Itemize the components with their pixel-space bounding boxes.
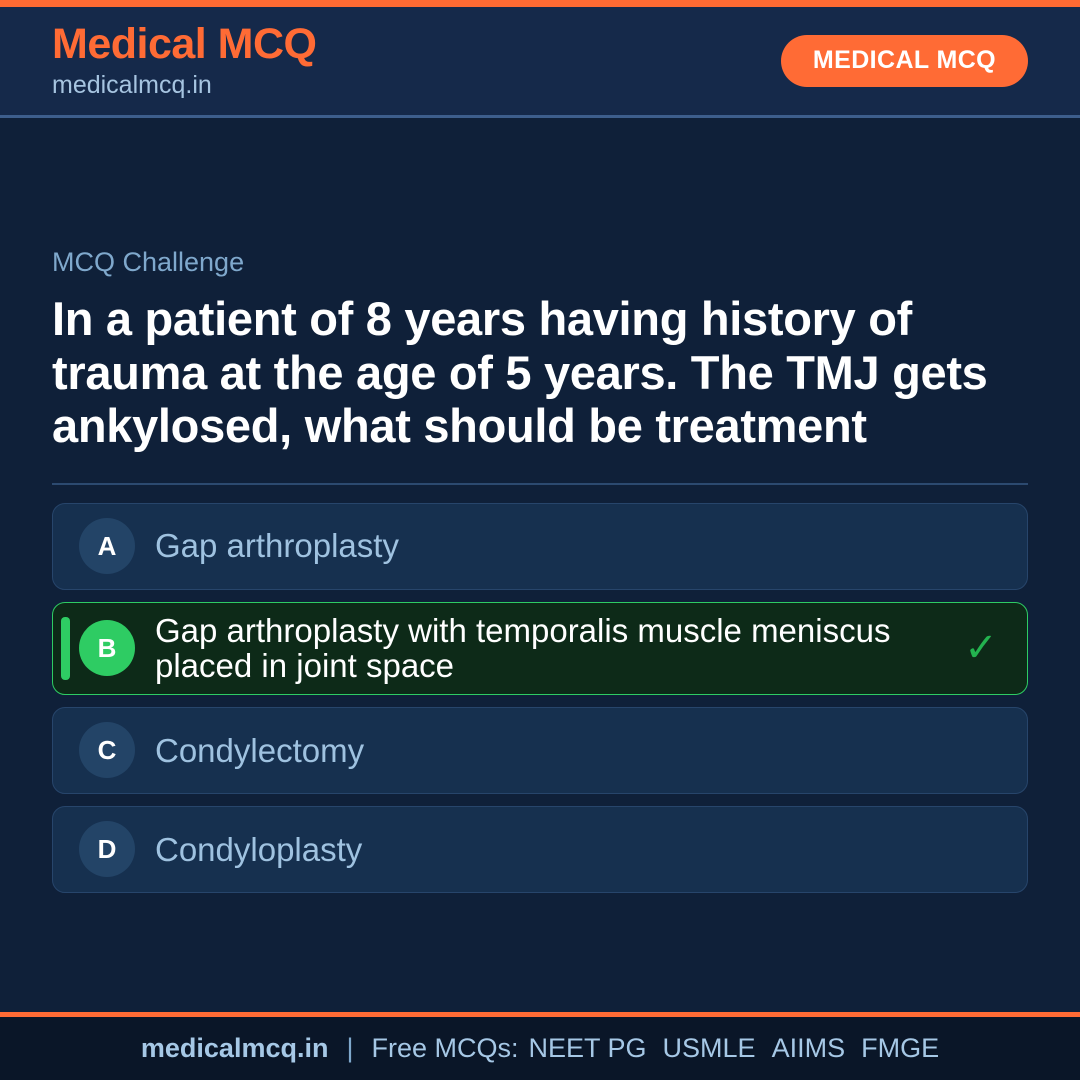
option-c[interactable]: C Condylectomy — [52, 707, 1028, 794]
brand-subtitle: medicalmcq.in — [52, 70, 317, 100]
option-label: Condyloplasty — [155, 832, 959, 868]
option-letter-badge: B — [79, 620, 135, 676]
option-a[interactable]: A Gap arthroplasty — [52, 503, 1028, 590]
footer-tag-aiims[interactable]: AIIMS — [772, 1035, 846, 1062]
brand-title: Medical MCQ — [52, 22, 317, 68]
option-letter-badge: C — [79, 722, 135, 778]
option-label: Gap arthroplasty — [155, 528, 959, 564]
check-icon: ✓ — [959, 628, 1003, 668]
option-label: Gap arthroplasty with temporalis muscle … — [155, 613, 959, 684]
correct-accent-bar — [61, 617, 70, 680]
options-list: A Gap arthroplasty B Gap arthroplasty wi… — [52, 503, 1028, 893]
option-letter-badge: D — [79, 821, 135, 877]
footer-tags: NEET PG USMLE AIIMS FMGE — [529, 1035, 940, 1062]
option-b[interactable]: B Gap arthroplasty with temporalis muscl… — [52, 602, 1028, 695]
option-label: Condylectomy — [155, 733, 959, 769]
footer-content: medicalmcq.in | Free MCQs: NEET PG USMLE… — [141, 1035, 939, 1062]
option-d[interactable]: D Condyloplasty — [52, 806, 1028, 893]
option-letter-badge: A — [79, 518, 135, 574]
question-divider — [52, 483, 1028, 485]
question-text: In a patient of 8 years having history o… — [52, 292, 1027, 451]
footer: medicalmcq.in | Free MCQs: NEET PG USMLE… — [0, 1012, 1080, 1080]
header-badge[interactable]: MEDICAL MCQ — [781, 35, 1028, 87]
kicker-label: MCQ Challenge — [52, 246, 1028, 278]
main-content: MCQ Challenge In a patient of 8 years ha… — [0, 118, 1080, 1012]
mcq-card: Medical MCQ medicalmcq.in MEDICAL MCQ MC… — [0, 0, 1080, 1080]
footer-tag-fmge[interactable]: FMGE — [861, 1035, 939, 1062]
footer-tag-usmle[interactable]: USMLE — [663, 1035, 756, 1062]
top-accent-bar — [0, 0, 1080, 7]
footer-tag-neetpg[interactable]: NEET PG — [529, 1035, 647, 1062]
footer-site[interactable]: medicalmcq.in — [141, 1035, 329, 1062]
footer-separator: | — [346, 1035, 353, 1062]
footer-label: Free MCQs: — [371, 1035, 518, 1062]
header: Medical MCQ medicalmcq.in MEDICAL MCQ — [0, 7, 1080, 118]
brand-block: Medical MCQ medicalmcq.in — [52, 22, 317, 100]
